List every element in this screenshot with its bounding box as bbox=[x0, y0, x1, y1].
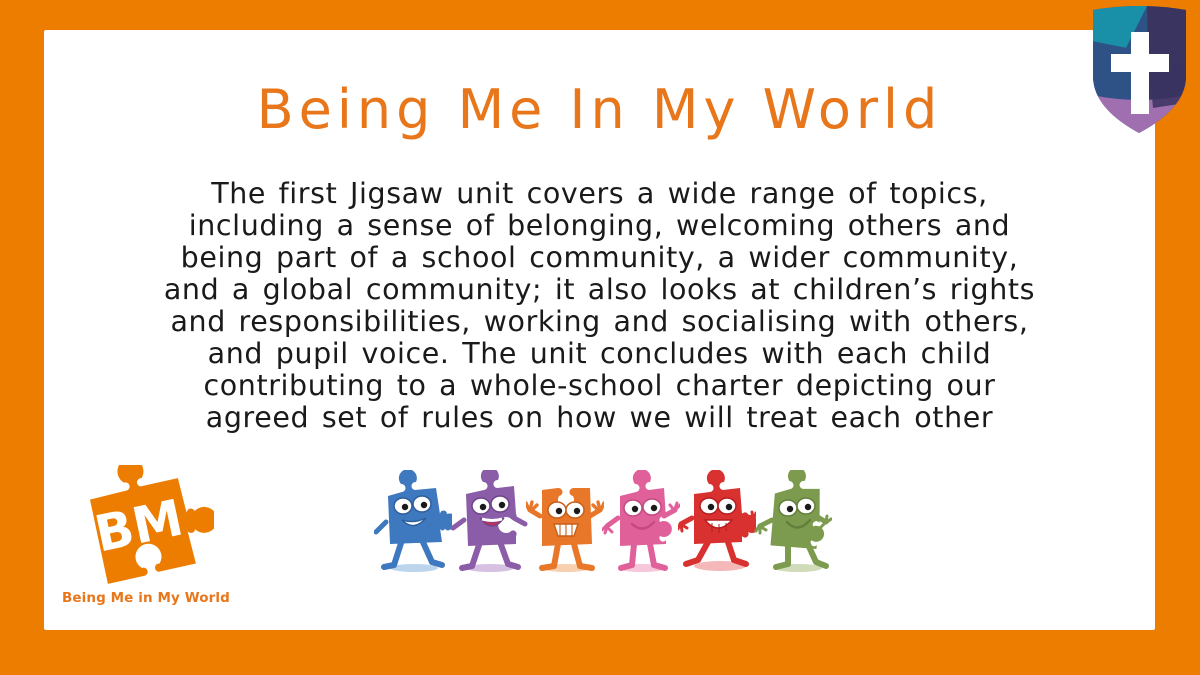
body-line: and responsibilities, working and social… bbox=[94, 306, 1105, 338]
body-line: and a global community; it also looks at… bbox=[94, 274, 1105, 306]
jigsaw-character-red bbox=[678, 470, 756, 572]
jigsaw-character-pink bbox=[602, 470, 680, 572]
jigsaw-character-row bbox=[374, 467, 834, 572]
bm-logo-caption: Being Me in My World bbox=[62, 590, 230, 606]
jigsaw-character-blue bbox=[374, 470, 452, 572]
body-line: including a sense of belonging, welcomin… bbox=[94, 210, 1105, 242]
body-line: and pupil voice. The unit concludes with… bbox=[94, 338, 1105, 370]
page-title: Being Me In My World bbox=[44, 78, 1155, 141]
jigsaw-character-green bbox=[754, 470, 832, 572]
bm-logo-lockup: BM Being Me in My World bbox=[52, 465, 262, 620]
content-card: Being Me In My World The first Jigsaw un… bbox=[44, 30, 1155, 630]
jigsaw-character-orange bbox=[526, 470, 604, 572]
slide-background: Being Me In My World The first Jigsaw un… bbox=[0, 0, 1200, 675]
jigsaw-character-purple bbox=[450, 470, 528, 572]
bm-puzzle-piece-icon: BM bbox=[64, 465, 214, 585]
body-line: being part of a school community, a wide… bbox=[94, 242, 1105, 274]
school-shield-crest-icon bbox=[1087, 2, 1192, 137]
body-paragraph: The first Jigsaw unit covers a wide rang… bbox=[94, 178, 1105, 434]
body-line: The first Jigsaw unit covers a wide rang… bbox=[94, 178, 1105, 210]
body-line: agreed set of rules on how we will treat… bbox=[94, 402, 1105, 434]
body-line: contributing to a whole-school charter d… bbox=[94, 370, 1105, 402]
